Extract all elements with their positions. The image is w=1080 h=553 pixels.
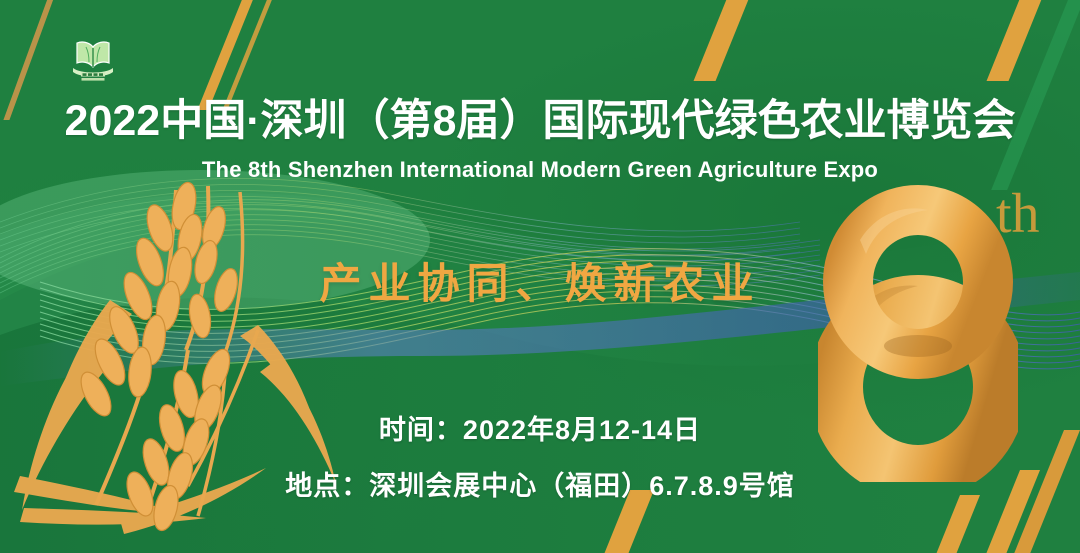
expo-poster: th 2022中国·深圳（第8届）国际现代绿色农业博览会 The 8th She…	[0, 0, 1080, 553]
page-title: 2022中国·深圳（第8届）国际现代绿色农业博览会	[0, 100, 1080, 143]
ordinal-suffix-th: th	[996, 186, 1040, 242]
event-slogan: 产业协同、焕新农业	[0, 250, 1080, 311]
page-subtitle-english: The 8th Shenzhen International Modern Gr…	[0, 157, 1080, 183]
book-leaf-emblem-icon	[68, 36, 118, 86]
event-time: 时间：2022年8月12-14日	[0, 408, 1080, 447]
event-location: 地点：深圳会展中心（福田）6.7.8.9号馆	[0, 464, 1080, 503]
